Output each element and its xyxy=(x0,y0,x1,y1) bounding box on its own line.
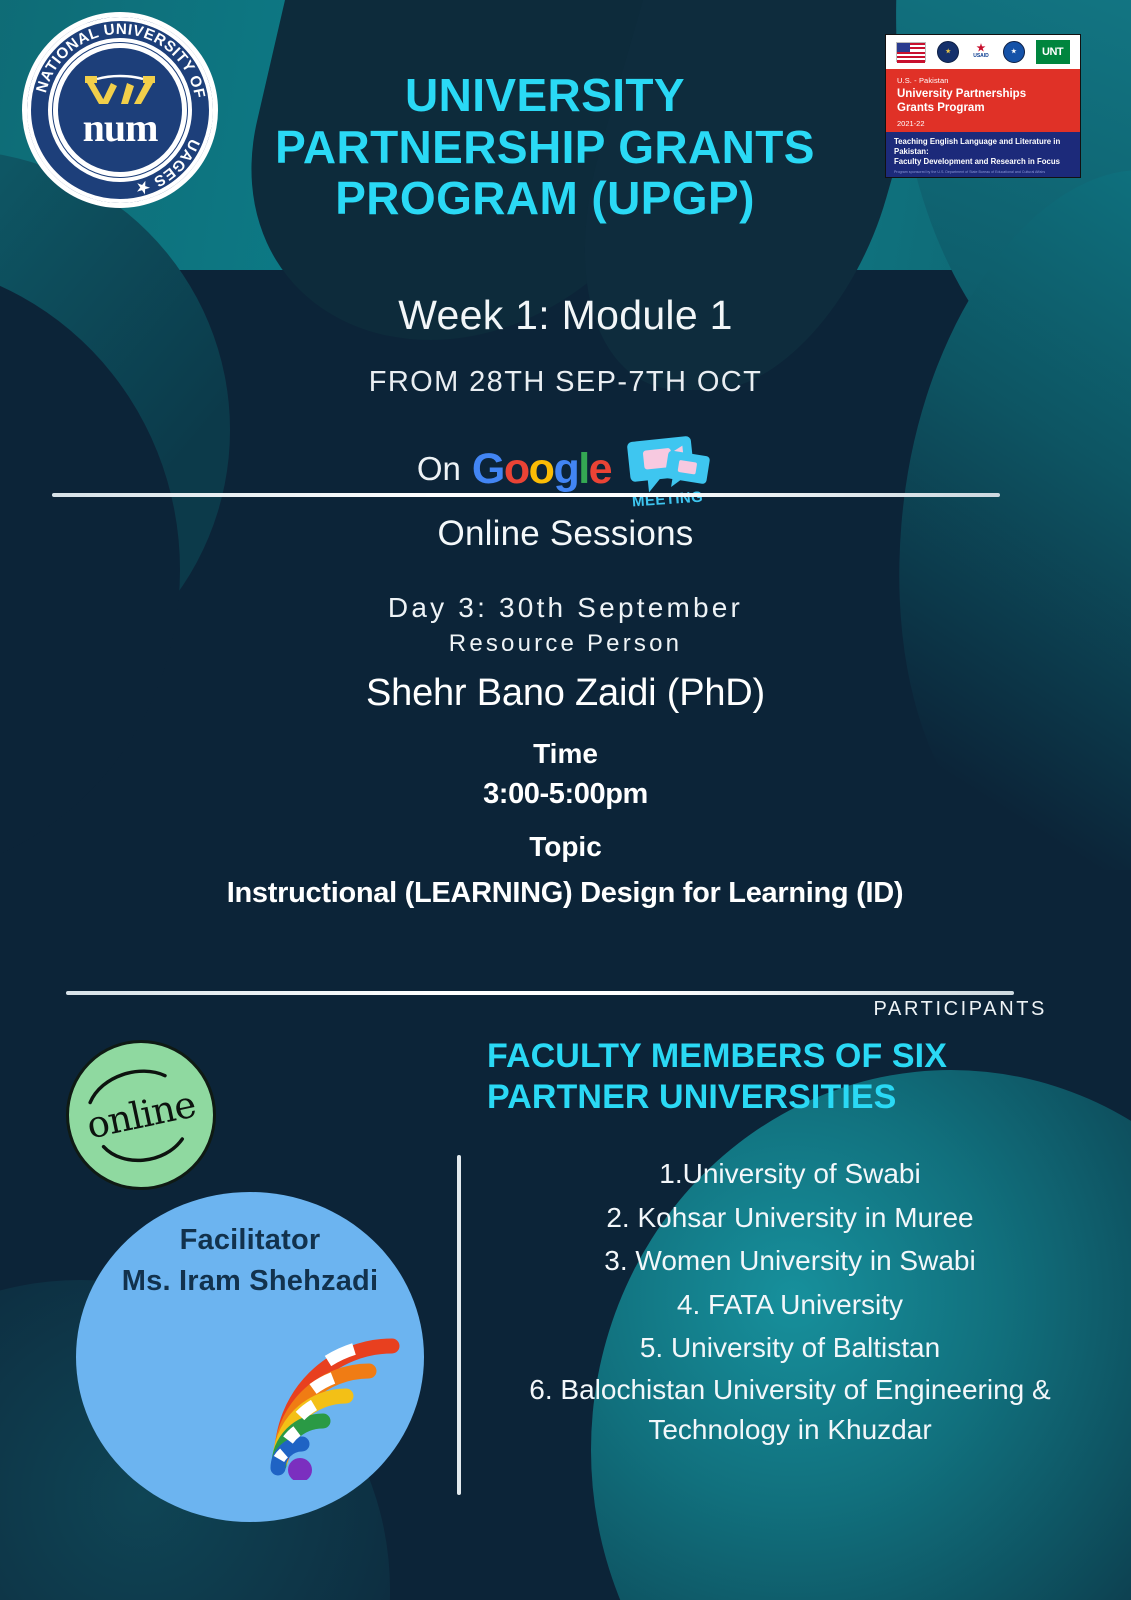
numl-logo: NATIONAL UNIVERSITY OF MODERN LANG UAGES… xyxy=(22,12,218,208)
page-title: UNIVERSITY PARTNERSHIP GRANTS PROGRAM (U… xyxy=(215,70,875,225)
time-label: Time xyxy=(0,738,1131,770)
usaid-logo-icon: ★USAID xyxy=(970,41,992,63)
google-letter-e: e xyxy=(589,448,611,491)
numl-ring-text: NATIONAL UNIVERSITY OF MODERN LANG UAGES… xyxy=(27,17,213,203)
list-item: 6. Balochistan University of Engineering… xyxy=(470,1370,1110,1451)
list-item: 3. Women University in Swabi xyxy=(470,1239,1110,1283)
divider-top xyxy=(52,493,1000,497)
google-logo: Google xyxy=(472,448,611,491)
badge-title-line2: Grants Program xyxy=(897,101,1069,115)
google-letter-o1: o xyxy=(504,448,529,491)
badge-body: U.S. - Pakistan University Partnerships … xyxy=(886,69,1080,132)
poster-canvas: NATIONAL UNIVERSITY OF MODERN LANG UAGES… xyxy=(0,0,1131,1600)
list-item: 4. FATA University xyxy=(470,1283,1110,1327)
badge-footer-line1: Teaching English Language and Literature… xyxy=(894,137,1072,157)
list-item: 1.University of Swabi xyxy=(470,1152,1110,1196)
wifi-dot xyxy=(288,1458,312,1480)
badge-title-line1: University Partnerships xyxy=(897,87,1069,101)
online-badge: online xyxy=(66,1040,216,1190)
badge-footer: Teaching English Language and Literature… xyxy=(886,132,1080,170)
week-module-label: Week 1: Module 1 xyxy=(0,292,1131,339)
badge-footer-line2: Faculty Development and Research in Focu… xyxy=(894,157,1072,167)
facilitator-name: Ms. Iram Shehzadi xyxy=(122,1265,378,1298)
participants-vertical-divider xyxy=(457,1155,461,1495)
list-item: 2. Kohsar University in Muree xyxy=(470,1196,1110,1240)
numl-logo-ring: NATIONAL UNIVERSITY OF MODERN LANG UAGES… xyxy=(27,17,213,203)
resource-person-label: Resource Person xyxy=(0,630,1131,658)
session-day: Day 3: 30th September xyxy=(0,592,1131,624)
participants-heading-line2: PARTNER UNIVERSITIES xyxy=(487,1077,1047,1118)
topic-label: Topic xyxy=(0,831,1131,863)
badge-year: 2021-22 xyxy=(897,119,1069,128)
us-flag-icon xyxy=(896,42,926,62)
partner-university-list: 1.University of Swabi 2. Kohsar Universi… xyxy=(470,1152,1110,1451)
badge-fineprint: Program sponsored by the U.S. Department… xyxy=(886,170,1080,177)
divider-bottom xyxy=(66,991,1014,995)
google-letter-g2: g xyxy=(553,448,578,491)
platform-prefix: On xyxy=(417,450,461,488)
google-letter-l: l xyxy=(578,448,588,491)
program-badge: ★ ★USAID ★ UNT U.S. - Pakistan Universit… xyxy=(885,34,1081,178)
title-line-2: PARTNERSHIP GRANTS xyxy=(215,122,875,174)
rainbow-wifi-icon xyxy=(270,1330,415,1480)
title-line-1: UNIVERSITY xyxy=(215,70,875,122)
sessions-heading: Online Sessions xyxy=(0,514,1131,554)
time-value: 3:00-5:00pm xyxy=(0,778,1131,811)
title-line-3: PROGRAM (UPGP) xyxy=(215,173,875,225)
google-letter-o2: o xyxy=(529,448,554,491)
participants-label: PARTICIPANTS xyxy=(874,998,1047,1021)
resource-person-name: Shehr Bano Zaidi (PhD) xyxy=(0,672,1131,715)
google-letter-g1: G xyxy=(472,448,504,491)
date-range-label: FROM 28TH SEP-7TH OCT xyxy=(0,366,1131,399)
department-of-state-seal-icon: ★ xyxy=(937,41,959,63)
badge-subtitle: U.S. - Pakistan xyxy=(897,76,1069,85)
badge-logo-strip: ★ ★USAID ★ UNT xyxy=(886,35,1080,69)
topic-value: Instructional (LEARNING) Design for Lear… xyxy=(160,872,970,915)
unt-logo-icon: UNT xyxy=(1036,40,1070,64)
list-item: 5. University of Baltistan xyxy=(470,1326,1110,1370)
facilitator-role: Facilitator xyxy=(180,1224,321,1257)
participants-heading: FACULTY MEMBERS OF SIX PARTNER UNIVERSIT… xyxy=(487,1036,1047,1119)
participants-heading-line1: FACULTY MEMBERS OF SIX xyxy=(487,1036,1047,1077)
us-embassy-seal-icon: ★ xyxy=(1003,41,1025,63)
